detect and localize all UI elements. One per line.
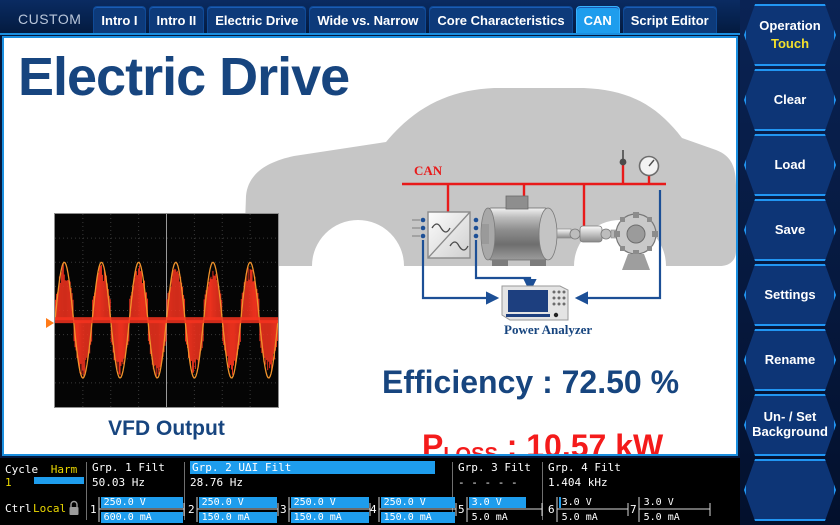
channel-number: 7 — [630, 496, 638, 523]
sidebar-button-un-set-background[interactable]: Un- / Set Background — [744, 394, 836, 456]
channel-current-text: 600.0 mA — [104, 512, 152, 523]
channel-indicator[interactable]: 3250.0 V150.0 mA — [280, 496, 372, 523]
efficiency-value: 72.50 % — [562, 364, 679, 400]
status-group[interactable]: Grp. 4 Filt1.404 kHz — [548, 461, 621, 489]
scope-caption: VFD Output — [54, 417, 279, 441]
sidebar-button-label: Save — [775, 223, 805, 238]
channel-number: 2 — [188, 496, 196, 523]
channel-number: 3 — [280, 496, 288, 523]
channel-voltage: 250.0 V — [98, 497, 186, 508]
channel-current: 5.0 mA — [638, 512, 712, 523]
cycle-bar — [34, 477, 84, 484]
channel-voltage-text: 3.0 V — [644, 497, 674, 508]
channel-current-text: 5.0 mA — [562, 512, 598, 523]
channel-current-text: 150.0 mA — [384, 512, 432, 523]
channel-current: 150.0 mA — [378, 512, 458, 523]
tab-core-characteristics[interactable]: Core Characteristics — [429, 6, 572, 34]
sidebar-button-save[interactable]: Save — [744, 199, 836, 261]
channel-bars: 3.0 V5.0 mA — [466, 496, 544, 523]
status-group-frequency: 1.404 kHz — [548, 476, 621, 489]
channel-current: 150.0 mA — [196, 512, 280, 523]
sidebar-button-rename[interactable]: Rename — [744, 329, 836, 391]
sidebar-button-empty-7[interactable] — [744, 459, 836, 521]
status-group-frequency: 28.76 Hz — [190, 476, 435, 489]
status-group[interactable]: Grp. 3 Filt- - - - - — [458, 461, 531, 489]
tab-underline — [0, 33, 740, 35]
channel-bars: 3.0 V5.0 mA — [556, 496, 630, 523]
channel-indicator[interactable]: 53.0 V5.0 mA — [458, 496, 544, 523]
sidebar-button-label: Un- / Set Background — [746, 410, 834, 440]
can-bus-label: CAN — [414, 163, 443, 178]
channel-voltage-text: 250.0 V — [104, 497, 146, 508]
channel-bars: 250.0 V600.0 mA — [98, 496, 186, 523]
status-group-title: Grp. 2 UΔI Filt — [190, 461, 435, 474]
tab-electric-drive[interactable]: Electric Drive — [207, 6, 306, 34]
sidebar-button-label: Load — [774, 158, 805, 173]
channel-voltage: 3.0 V — [638, 497, 712, 508]
channel-voltage-text: 250.0 V — [294, 497, 336, 508]
channel-voltage-text: 3.0 V — [562, 497, 592, 508]
bottom-status-bar: Cycle Harm 1 Ctrl Local Grp. 1 Filt50.03… — [0, 458, 740, 525]
channel-voltage: 3.0 V — [466, 497, 544, 508]
channel-number: 4 — [370, 496, 378, 523]
status-group-title: Grp. 1 Filt — [92, 461, 165, 474]
waveform-trace — [55, 214, 278, 407]
channel-indicator[interactable]: 63.0 V5.0 mA — [548, 496, 630, 523]
ploss-subscript: LOSS — [443, 444, 497, 456]
channel-current-text: 150.0 mA — [294, 512, 342, 523]
sidebar-button-label: Operation — [759, 19, 820, 34]
channel-voltage-text: 250.0 V — [384, 497, 426, 508]
efficiency-readout: Efficiency : 72.50 % — [382, 364, 679, 401]
channel-voltage: 250.0 V — [196, 497, 280, 508]
tab-intro-i[interactable]: Intro I — [93, 6, 145, 34]
tab-list: Intro IIntro IIElectric DriveWide vs. Na… — [93, 0, 719, 34]
sidebar-button-label: Rename — [765, 353, 816, 368]
channel-bars: 3.0 V5.0 mA — [638, 496, 712, 523]
status-group-frequency: - - - - - — [458, 476, 531, 489]
sidebar-button-label: Settings — [764, 288, 815, 303]
status-group-title: Grp. 4 Filt — [548, 461, 621, 474]
tab-can[interactable]: CAN — [576, 6, 620, 34]
custom-label: CUSTOM — [6, 11, 93, 34]
channel-number: 5 — [458, 496, 466, 523]
app-root: CUSTOM Intro IIntro IIElectric DriveWide… — [0, 0, 840, 525]
status-group-frequency: 50.03 Hz — [92, 476, 165, 489]
channel-voltage-text: 3.0 V — [472, 497, 502, 508]
efficiency-label: Efficiency : — [382, 364, 562, 400]
power-analyzer-label: Power Analyzer — [504, 322, 592, 337]
power-analyzer-device — [502, 286, 568, 320]
power-loss-readout: PLOSS : 10.57 kW — [422, 428, 663, 456]
tab-script-editor[interactable]: Script Editor — [623, 6, 717, 34]
tab-intro-ii[interactable]: Intro II — [149, 6, 205, 34]
channel-current-text: 5.0 mA — [644, 512, 680, 523]
cycle-label: Cycle — [5, 463, 38, 476]
channel-number: 6 — [548, 496, 556, 523]
scope-screen[interactable] — [54, 213, 279, 408]
tab-wide-vs-narrow[interactable]: Wide vs. Narrow — [309, 6, 426, 34]
sidebar-button-sublabel: Touch — [771, 37, 809, 52]
channel-current: 600.0 mA — [98, 512, 186, 523]
sidebar-button-load[interactable]: Load — [744, 134, 836, 196]
channel-bars: 250.0 V150.0 mA — [196, 496, 280, 523]
status-divider — [86, 462, 87, 520]
channel-voltage: 3.0 V — [556, 497, 630, 508]
sidebar-button-label: Clear — [774, 93, 807, 108]
channel-voltage: 250.0 V — [378, 497, 458, 508]
channel-current: 5.0 mA — [556, 512, 630, 523]
channel-indicator[interactable]: 73.0 V5.0 mA — [630, 496, 712, 523]
sidebar-button-operation[interactable]: OperationTouch — [744, 4, 836, 66]
channel-voltage: 250.0 V — [288, 497, 372, 508]
channel-current-text: 5.0 mA — [472, 512, 508, 523]
channel-voltage-text: 250.0 V — [202, 497, 244, 508]
status-group[interactable]: Grp. 1 Filt50.03 Hz — [92, 461, 165, 489]
lock-icon — [68, 500, 80, 516]
ctrl-label: Ctrl — [5, 502, 32, 515]
slide-canvas[interactable]: Electric Drive — [2, 36, 738, 456]
channel-bars: 250.0 V150.0 mA — [378, 496, 458, 523]
status-group-title: Grp. 3 Filt — [458, 461, 531, 474]
ploss-symbol: P — [422, 428, 443, 456]
ploss-value: 10.57 kW — [526, 428, 663, 456]
right-side-menu: OperationTouchClearLoadSaveSettingsRenam… — [740, 0, 840, 525]
channel-indicator[interactable]: 1250.0 V600.0 mA — [90, 496, 186, 523]
trigger-marker-icon — [46, 318, 54, 328]
sidebar-button-clear[interactable]: Clear — [744, 69, 836, 131]
powertrain-schematic: CAN — [384, 150, 684, 350]
channel-current-text: 150.0 mA — [202, 512, 250, 523]
channel-bars: 250.0 V150.0 mA — [288, 496, 372, 523]
sidebar-button-settings[interactable]: Settings — [744, 264, 836, 326]
ploss-separator: : — [498, 428, 526, 456]
cycle-row: Cycle Harm 1 — [5, 463, 86, 489]
channel-indicator[interactable]: 2250.0 V150.0 mA — [188, 496, 280, 523]
channel-indicator[interactable]: 4250.0 V150.0 mA — [370, 496, 458, 523]
channel-current: 5.0 mA — [466, 512, 544, 523]
status-group[interactable]: Grp. 2 UΔI Filt28.76 Hz — [190, 461, 435, 489]
status-left-block: Cycle Harm 1 Ctrl Local — [2, 458, 86, 525]
top-tab-bar: CUSTOM Intro IIntro IIElectric DriveWide… — [0, 0, 740, 34]
channel-number: 1 — [90, 496, 98, 523]
channel-current: 150.0 mA — [288, 512, 372, 523]
ctrl-value: Local — [33, 502, 66, 515]
